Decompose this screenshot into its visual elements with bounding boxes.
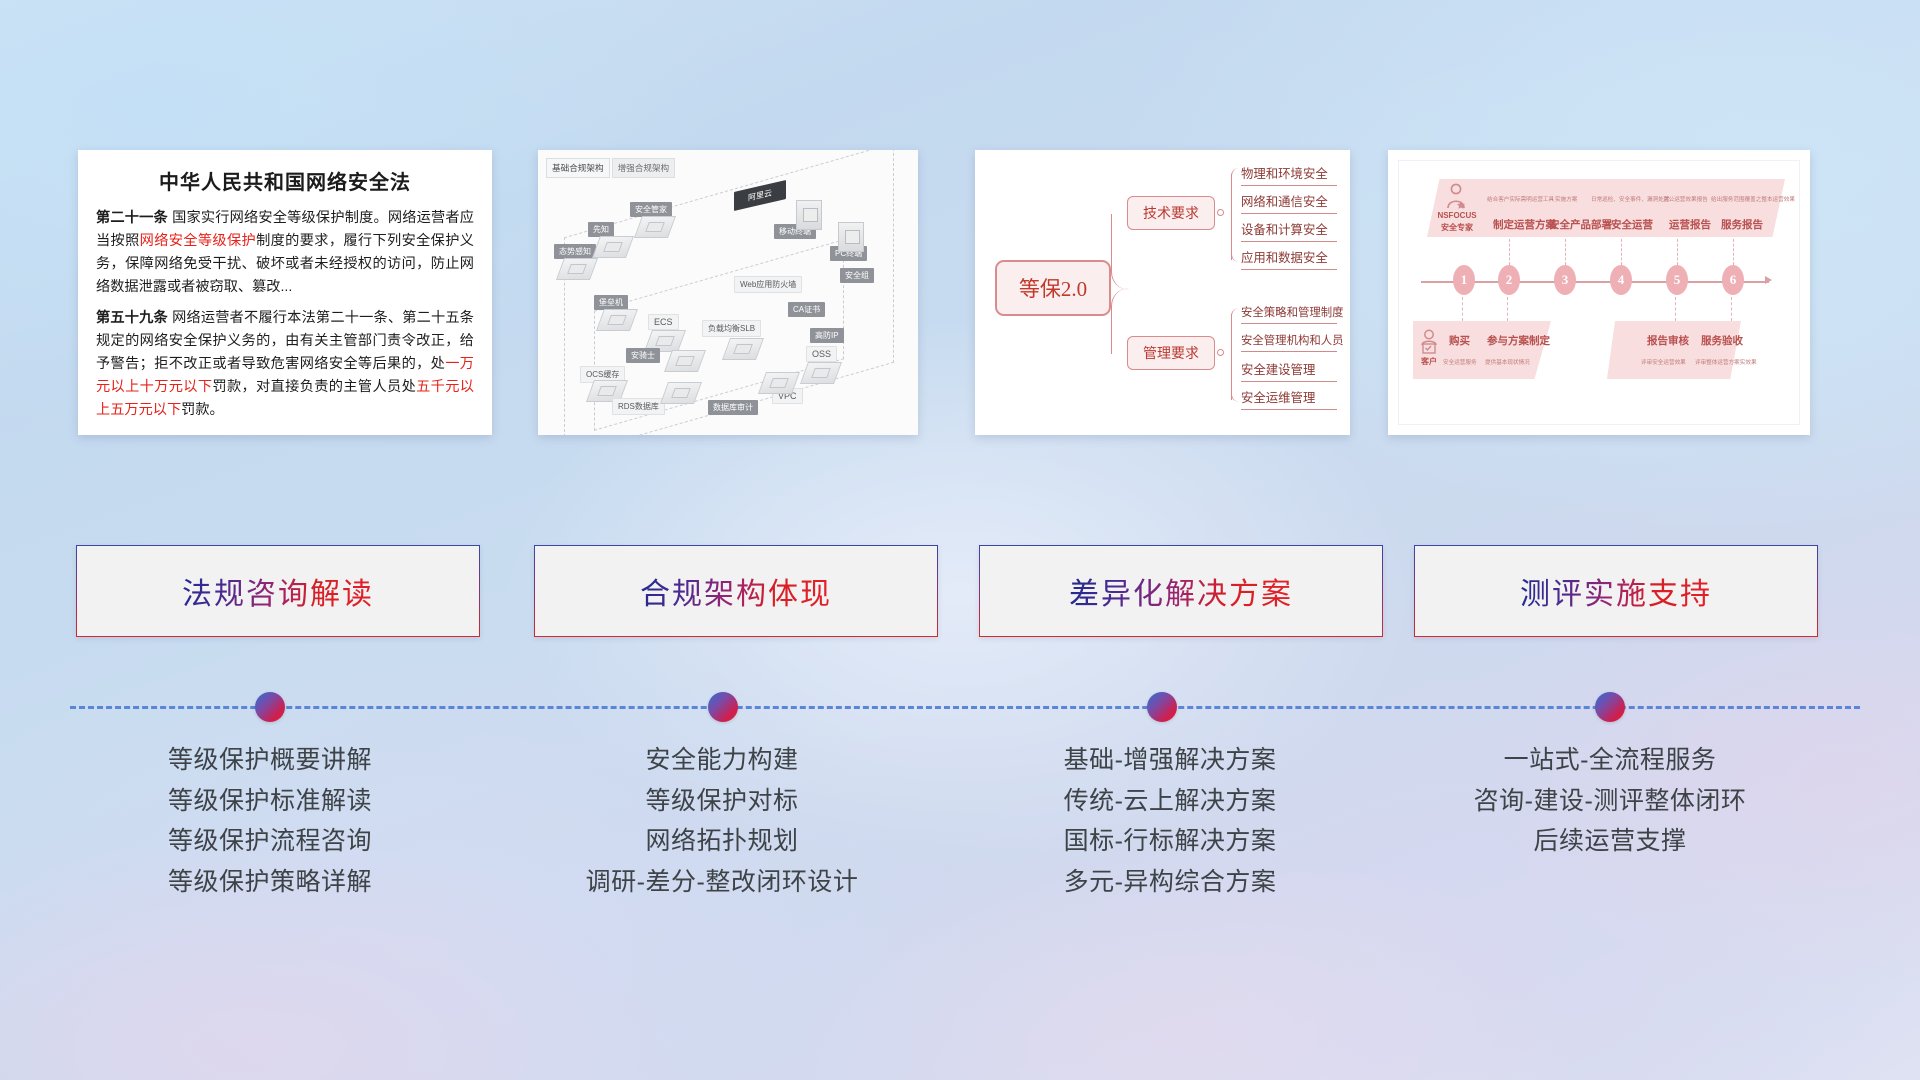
timeline-node-5[interactable]: 5 xyxy=(1666,265,1688,295)
heading-label-differentiated-solution: 差异化解决方案 xyxy=(1069,569,1293,613)
review-step-2-sub: 评审整体运营方案实效果 xyxy=(1695,358,1757,366)
chip-ca-cert: CA证书 xyxy=(788,302,825,317)
step-2-label: 制定运营方案 xyxy=(1493,217,1556,232)
nsfocus-review-band xyxy=(1607,321,1741,379)
article-21-highlight: 网络安全等级保护 xyxy=(140,233,256,249)
customer-step-1-sub: 安全运营服务 xyxy=(1443,358,1477,366)
timeline-node-3[interactable]: 3 xyxy=(1554,265,1576,295)
mindmap-leaf-device: 设备和计算安全 xyxy=(1241,220,1337,242)
process-timeline xyxy=(0,692,1920,722)
card-cybersecurity-law[interactable]: 中华人民共和国网络安全法 第二十一条 国家实行网络安全等级保护制度。网络运营者应… xyxy=(78,150,492,435)
cloud-tab-group[interactable]: 基础合规架构 增强合规架构 xyxy=(546,158,675,178)
heading-box-regulation-consulting[interactable]: 法规咨询解读 xyxy=(76,545,480,637)
card-nsfocus-timeline[interactable]: NSFOCUS 安全专家 结合客户实际需明运营工具 制定运营方案 实施方案 安全… xyxy=(1388,150,1810,435)
list-item: 传统-云上解决方案 xyxy=(960,781,1380,822)
connector-step-5 xyxy=(1677,239,1678,265)
timeline-dashed-line xyxy=(70,706,1860,709)
mindmap-cap-management-bottom xyxy=(1231,394,1241,402)
expert-role-line-1: NSFOCUS xyxy=(1431,211,1483,220)
expert-role-line-2: 安全专家 xyxy=(1431,223,1483,232)
timeline-node-1[interactable]: 1 xyxy=(1453,265,1475,295)
customer-person-icon xyxy=(1419,329,1439,355)
law-title: 中华人民共和国网络安全法 xyxy=(96,166,474,195)
law-article-59: 第五十九条 网络运营者不履行本法第二十一条、第二十五条规定的网络安全保护义务的，… xyxy=(96,307,474,422)
step-4-label: 安全运营 xyxy=(1611,217,1653,232)
list-item: 国标-行标解决方案 xyxy=(960,821,1380,862)
step-6-sub: 给出服务范围覆盖之整本运营效果 xyxy=(1711,195,1795,203)
customer-role-label: 客户 xyxy=(1417,357,1441,366)
list-item: 网络拓扑规划 xyxy=(512,821,932,862)
list-item: 多元-异构综合方案 xyxy=(960,862,1380,903)
list-item: 一站式-全流程服务 xyxy=(1400,740,1820,781)
heading-box-compliance-architecture[interactable]: 合规架构体现 xyxy=(534,545,938,637)
chip-anqishi: 安骑士 xyxy=(626,348,660,363)
expert-person-icon xyxy=(1445,183,1467,209)
timeline-dot-3[interactable] xyxy=(1147,692,1177,722)
list-item: 等级保护流程咨询 xyxy=(60,821,480,862)
timeline-node-2[interactable]: 2 xyxy=(1498,265,1520,295)
mindmap-spine-technical xyxy=(1231,174,1232,260)
connector-step-6 xyxy=(1733,239,1734,265)
mindmap-leaf-application: 应用和数据安全 xyxy=(1241,248,1337,270)
mindmap-root: 等保2.0 xyxy=(995,260,1111,316)
article-59-label: 第五十九条 xyxy=(96,310,168,326)
chip-ecs: ECS xyxy=(648,314,679,330)
mindmap-branch-technical: 技术要求 xyxy=(1127,196,1215,230)
step-3-label: 安全产品部署 xyxy=(1549,217,1612,232)
node-pc-terminal xyxy=(838,222,864,252)
customer-step-2-label: 参与方案制定 xyxy=(1487,333,1550,348)
connector-customer-2 xyxy=(1507,297,1508,321)
cloud-tab-basic[interactable]: 基础合规架构 xyxy=(546,158,610,178)
detail-list-assessment-support: 一站式-全流程服务 咨询-建设-测评整体闭环 后续运营支撑 xyxy=(1400,740,1820,862)
mindmap-dot-management xyxy=(1217,349,1224,356)
chip-rds: RDS数据库 xyxy=(612,398,665,415)
step-6-label: 服务报告 xyxy=(1721,217,1763,232)
mindmap-spine-management xyxy=(1231,314,1232,400)
chip-security-group: 安全组 xyxy=(840,268,874,283)
article-21-label: 第二十一条 xyxy=(96,210,168,226)
card-dengbao-mindmap[interactable]: 等保2.0 技术要求 物理和环境安全 网络和通信安全 设备和计算安全 应用和数据… xyxy=(975,150,1350,435)
connector-review-2 xyxy=(1731,297,1732,321)
detail-list-regulation-consulting: 等级保护概要讲解 等级保护标准解读 等级保护流程咨询 等级保护策略详解 xyxy=(60,740,480,902)
article-59-mid: 罚款，对直接负责的主管人员处 xyxy=(212,379,416,395)
image-card-row: 中华人民共和国网络安全法 第二十一条 国家实行网络安全等级保护制度。网络运营者应… xyxy=(0,150,1920,440)
review-step-2-label: 服务验收 xyxy=(1701,333,1743,348)
list-item: 咨询-建设-测评整体闭环 xyxy=(1400,781,1820,822)
mindmap-cap-technical-bottom xyxy=(1231,254,1241,262)
chip-bastion-host: 堡垒机 xyxy=(594,295,628,310)
review-step-1-label: 报告审核 xyxy=(1647,333,1689,348)
customer-step-1-label: 购买 xyxy=(1449,333,1470,348)
heading-label-compliance-architecture: 合规架构体现 xyxy=(640,569,832,613)
timeline-dot-1[interactable] xyxy=(255,692,285,722)
step-2-sub: 结合客户实际需明运营工具 xyxy=(1487,195,1554,203)
mindmap-leaf-physical: 物理和环境安全 xyxy=(1241,164,1337,186)
node-mobile-terminal xyxy=(796,200,822,230)
list-item: 等级保护策略详解 xyxy=(60,862,480,903)
chip-oss: OSS xyxy=(806,346,837,362)
chip-db-audit: 数据库审计 xyxy=(708,400,758,415)
timeline-dot-2[interactable] xyxy=(708,692,738,722)
step-5-label: 运营报告 xyxy=(1669,217,1711,232)
list-item: 安全能力构建 xyxy=(512,740,932,781)
customer-step-2-sub: 提供基本现状情况 xyxy=(1485,358,1530,366)
connector-review-1 xyxy=(1675,297,1676,321)
mindmap-leaf-policy: 安全策略和管理制度 xyxy=(1241,304,1337,324)
chip-xianzhi: 先知 xyxy=(588,222,614,237)
connector-step-4 xyxy=(1621,239,1622,265)
detail-list-differentiated-solution: 基础-增强解决方案 传统-云上解决方案 国标-行标解决方案 多元-异构综合方案 xyxy=(960,740,1380,902)
timeline-node-6[interactable]: 6 xyxy=(1722,265,1744,295)
mindmap-dot-technical xyxy=(1217,209,1224,216)
heading-label-regulation-consulting: 法规咨询解读 xyxy=(182,569,374,613)
list-item: 等级保护概要讲解 xyxy=(60,740,480,781)
timeline-node-4[interactable]: 4 xyxy=(1610,265,1632,295)
heading-label-assessment-support: 测评实施支持 xyxy=(1520,569,1712,613)
mindmap-leaf-construction: 安全建设管理 xyxy=(1241,360,1337,382)
list-item: 后续运营支撑 xyxy=(1400,821,1820,862)
chip-slb: 负载均衡SLB xyxy=(702,320,761,337)
heading-row: 法规咨询解读 合规架构体现 差异化解决方案 测评实施支持 xyxy=(0,545,1920,645)
nsfocus-frame: NSFOCUS 安全专家 结合客户实际需明运营工具 制定运营方案 实施方案 安全… xyxy=(1398,160,1800,425)
connector-customer-1 xyxy=(1462,297,1463,321)
chip-situational-awareness: 态势感知 xyxy=(554,244,596,259)
chip-anti-ddos-ip: 高防IP xyxy=(810,328,844,343)
cloud-architecture-diagram: 基础合规架构 增强合规架构 阿里云 态势感知 先知 安全管家 堡垒机 ECS 安… xyxy=(538,150,918,435)
detail-list-compliance-architecture: 安全能力构建 等级保护对标 网络拓扑规划 调研-差分-整改闭环设计 xyxy=(512,740,932,902)
mindmap-leaf-org: 安全管理机构和人员 xyxy=(1241,332,1337,352)
step-3-sub: 实施方案 xyxy=(1555,195,1577,203)
list-item: 调研-差分-整改闭环设计 xyxy=(512,862,932,903)
list-item: 等级保护对标 xyxy=(512,781,932,822)
law-article-21: 第二十一条 国家实行网络安全等级保护制度。网络运营者应当按照网络安全等级保护制度… xyxy=(96,207,474,299)
node-oss xyxy=(800,362,842,384)
mindmap-leaf-network: 网络和通信安全 xyxy=(1241,192,1337,214)
list-item: 基础-增强解决方案 xyxy=(960,740,1380,781)
chip-security-butler: 安全管家 xyxy=(630,202,672,217)
mindmap-leaf-operations: 安全运维管理 xyxy=(1241,388,1337,410)
heading-box-assessment-support[interactable]: 测评实施支持 xyxy=(1414,545,1818,637)
law-document: 中华人民共和国网络安全法 第二十一条 国家实行网络安全等级保护制度。网络运营者应… xyxy=(78,150,492,432)
mindmap-cap-technical-top xyxy=(1231,168,1241,176)
list-item: 等级保护标准解读 xyxy=(60,781,480,822)
timeline-dot-4[interactable] xyxy=(1595,692,1625,722)
nsfocus-diagram: NSFOCUS 安全专家 结合客户实际需明运营工具 制定运营方案 实施方案 安全… xyxy=(1388,150,1810,435)
cloud-tab-enhanced[interactable]: 增强合规架构 xyxy=(612,158,676,178)
connector-step-3 xyxy=(1565,239,1566,265)
heading-box-differentiated-solution[interactable]: 差异化解决方案 xyxy=(979,545,1383,637)
nsfocus-axis-arrow xyxy=(1765,276,1772,284)
connector-step-2 xyxy=(1509,239,1510,265)
chip-waf: Web应用防火墙 xyxy=(734,276,802,293)
step-5-sub: 对公运营效果报告 xyxy=(1663,195,1708,203)
card-cloud-architecture[interactable]: 基础合规架构 增强合规架构 阿里云 态势感知 先知 安全管家 堡垒机 ECS 安… xyxy=(538,150,918,435)
step-4-sub: 日常巡检、安全事件、漏洞处置 xyxy=(1591,195,1669,203)
article-59-post: 罚款。 xyxy=(181,402,224,418)
mindmap-diagram: 等保2.0 技术要求 物理和环境安全 网络和通信安全 设备和计算安全 应用和数据… xyxy=(975,150,1350,435)
mindmap-branch-management: 管理要求 xyxy=(1127,336,1215,370)
mindmap-cap-management-top xyxy=(1231,308,1241,316)
review-step-1-sub: 评审安全运营效果 xyxy=(1641,358,1686,366)
